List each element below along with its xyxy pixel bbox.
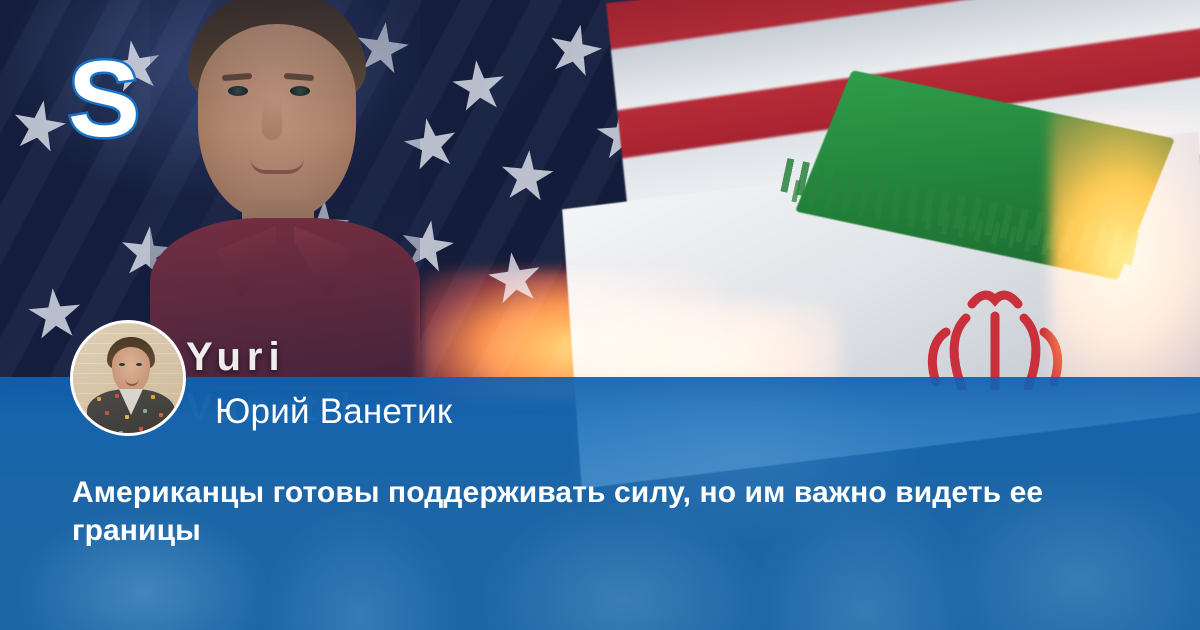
svg-text:S: S — [68, 44, 140, 152]
s-monogram-logo-icon: S — [66, 44, 142, 152]
author-avatar[interactable] — [70, 320, 186, 436]
portrait-photo — [150, 0, 420, 390]
article-headline[interactable]: Американцы готовы поддерживать силу, но … — [72, 474, 1128, 549]
flame-icon — [1050, 110, 1200, 410]
article-share-card: Yuri Vanetik S Юрий Ванетик Американцы г… — [0, 0, 1200, 630]
photo-watermark-first-name: Yuri — [186, 335, 286, 380]
author-name[interactable]: Юрий Ванетик — [215, 392, 452, 432]
site-logo[interactable]: S — [66, 44, 142, 152]
